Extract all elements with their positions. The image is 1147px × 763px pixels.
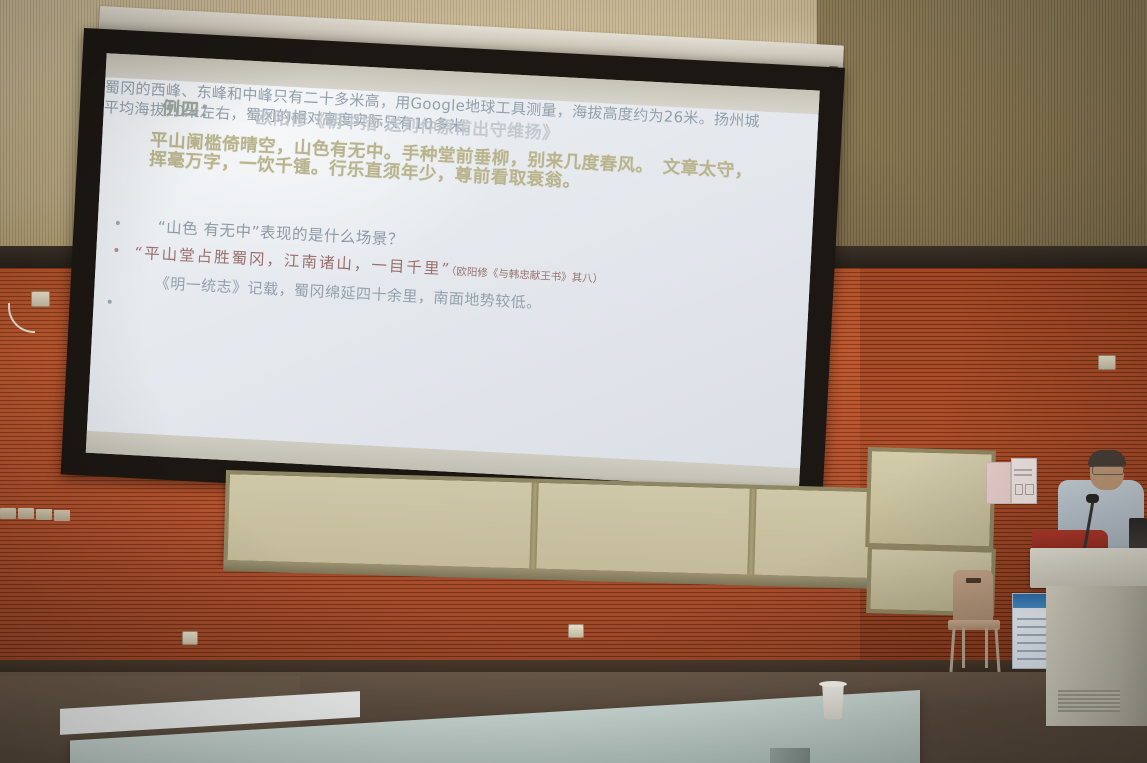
screen-surface: 例四： 欧阳修《朝中措·送刘仲原甫出守维扬》 平山阑槛倚晴空，山色有无中。手种堂… — [86, 53, 820, 490]
quotation-citation: （欧阳修《与韩忠献王书》其八） — [451, 266, 604, 286]
wall-strip — [18, 508, 34, 519]
notice-line — [1014, 469, 1032, 471]
notice-stamp — [1025, 484, 1033, 496]
whiteboard — [223, 470, 873, 582]
wall-outlet-right[interactable] — [1098, 355, 1116, 370]
podium-vent — [1058, 690, 1120, 712]
wall-outlet-lower[interactable] — [182, 631, 198, 645]
microphone-head — [1086, 494, 1099, 503]
paper-cup-rim — [819, 681, 847, 687]
chair-handle-slot — [966, 578, 981, 583]
bullet-marker-question — [116, 221, 120, 225]
projected-slide: 例四： 欧阳修《朝中措·送刘仲原甫出守维扬》 平山阑槛倚晴空，山色有无中。手种堂… — [87, 77, 819, 468]
wall-strip — [54, 510, 70, 521]
wall-outlet-center[interactable] — [568, 624, 584, 638]
whiteboard-divider — [529, 483, 538, 569]
bullet-marker-quotation — [114, 248, 118, 252]
dark-container — [1129, 518, 1147, 552]
paper-cup — [820, 683, 846, 719]
wall-strip — [36, 509, 52, 520]
projection-screen: 例四： 欧阳修《朝中措·送刘仲原甫出守维扬》 平山阑槛倚晴空，山色有无中。手种堂… — [61, 28, 845, 514]
speaker-hair — [1088, 450, 1126, 467]
table-leg — [770, 748, 810, 763]
chair-seat — [948, 620, 1000, 630]
whiteboard-divider — [747, 489, 756, 575]
slide-example-label: 例四： — [161, 94, 219, 123]
wall-notice-white — [1011, 458, 1037, 504]
chair-leg — [985, 628, 988, 668]
whiteboard-right-upper — [865, 447, 996, 551]
notice-stamp — [1015, 484, 1023, 496]
podium-top — [1030, 548, 1147, 588]
wall-strip — [0, 508, 16, 519]
chair-leg — [962, 628, 965, 668]
upper-wall-right-section — [817, 0, 1147, 262]
bullet-marker-elevation — [108, 300, 112, 304]
speaker-glasses — [1092, 466, 1124, 475]
notice-line — [1014, 474, 1032, 476]
wall-notice-pink — [986, 462, 1011, 504]
lecture-hall-scene: 例四： 欧阳修《朝中措·送刘仲原甫出守维扬》 平山阑槛倚晴空，山色有无中。手种堂… — [0, 0, 1147, 763]
